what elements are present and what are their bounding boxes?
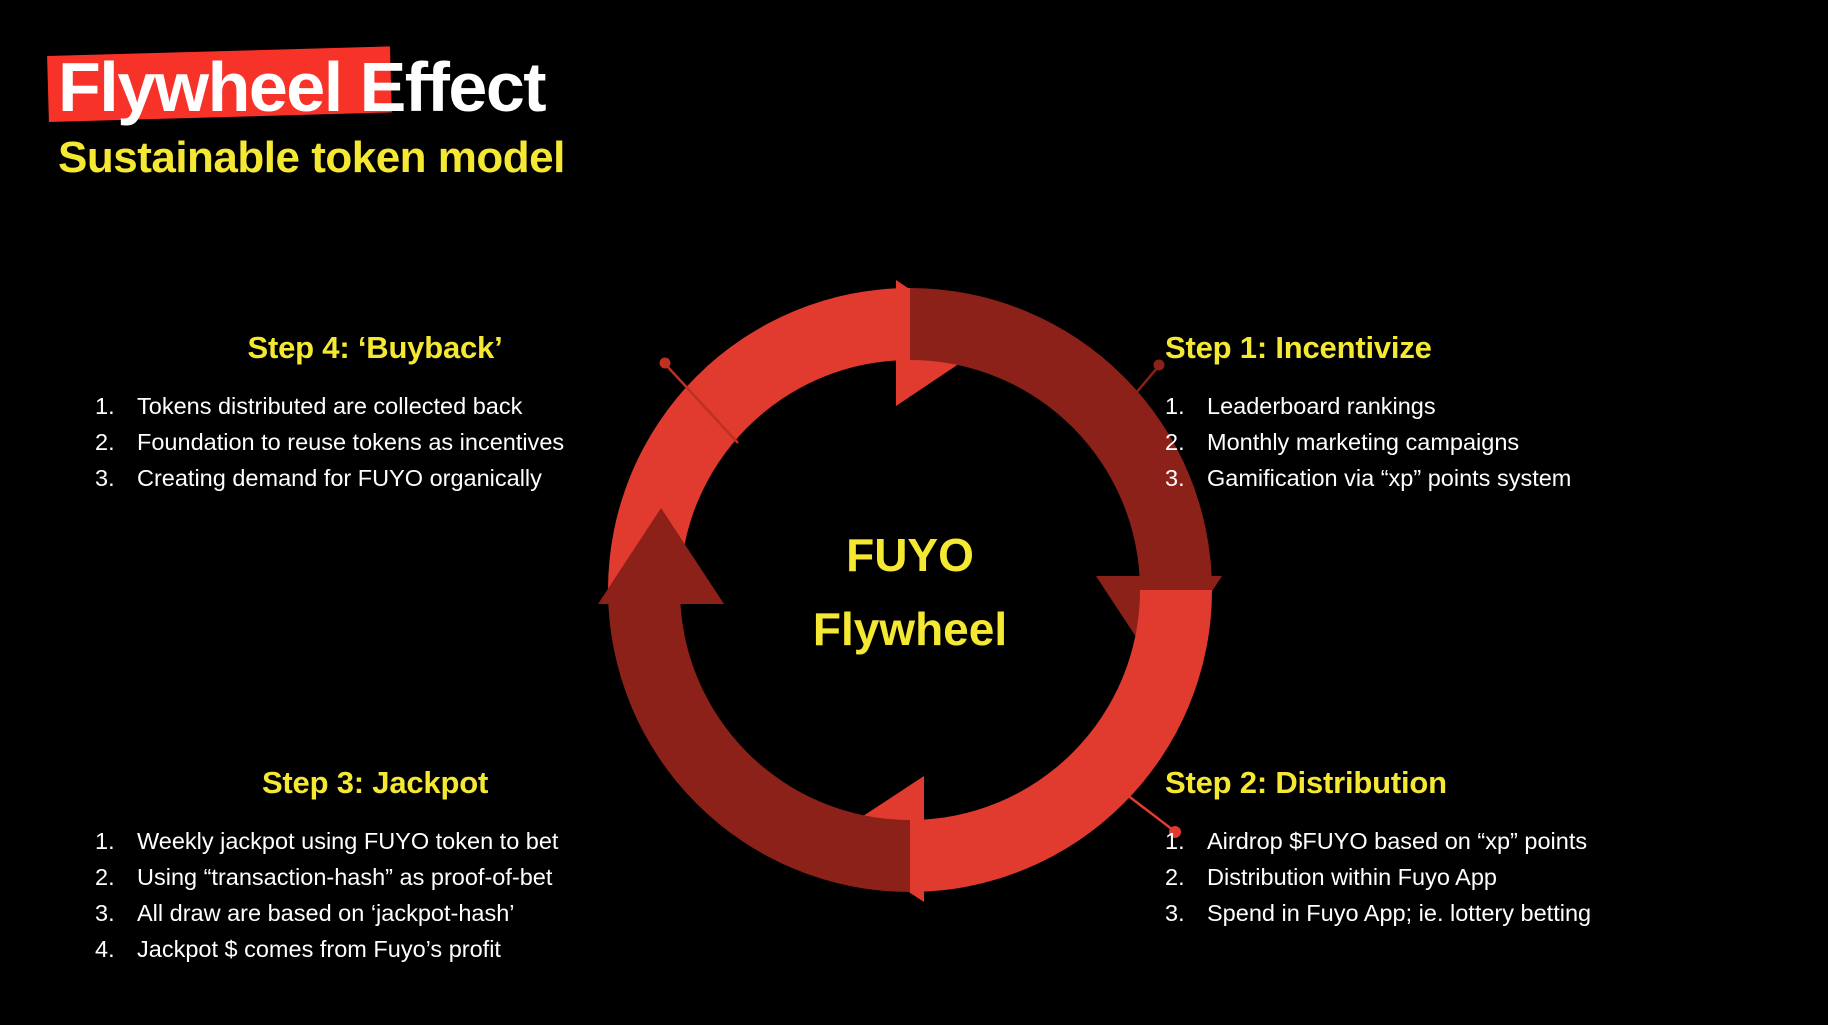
step-title-step2: Step 2: Distribution (1165, 765, 1591, 801)
list-item: 1. Tokens distributed are collected back (95, 388, 655, 424)
list-item-text: Distribution within Fuyo App (1207, 859, 1497, 895)
list-item-number: 3. (1165, 460, 1207, 496)
list-item-number: 3. (95, 895, 137, 931)
step-panel-step4: Step 4: ‘Buyback’ 1. Tokens distributed … (95, 330, 655, 496)
list-item-text: Gamification via “xp” points system (1207, 460, 1571, 496)
step-panel-step1: Step 1: Incentivize 1. Leaderboard ranki… (1165, 330, 1571, 496)
list-item-number: 1. (1165, 388, 1207, 424)
list-item: 4. Jackpot $ comes from Fuyo’s profit (95, 931, 655, 967)
step-panel-step2: Step 2: Distribution 1. Airdrop $FUYO ba… (1165, 765, 1591, 931)
list-item: 2. Monthly marketing campaigns (1165, 424, 1571, 460)
list-item-text: Weekly jackpot using FUYO token to bet (137, 823, 558, 859)
list-item: 1. Airdrop $FUYO based on “xp” points (1165, 823, 1591, 859)
list-item-number: 1. (95, 823, 137, 859)
list-item: 1. Leaderboard rankings (1165, 388, 1571, 424)
list-item: 3. All draw are based on ‘jackpot-hash’ (95, 895, 655, 931)
list-item-number: 4. (95, 931, 137, 967)
list-item: 1. Weekly jackpot using FUYO token to be… (95, 823, 655, 859)
list-item-text: Leaderboard rankings (1207, 388, 1436, 424)
step-title-step1: Step 1: Incentivize (1165, 330, 1571, 366)
list-item-number: 2. (1165, 424, 1207, 460)
step-title-step4: Step 4: ‘Buyback’ (95, 330, 655, 366)
list-item-text: Tokens distributed are collected back (137, 388, 522, 424)
step-list-step4: 1. Tokens distributed are collected back… (95, 388, 655, 496)
list-item-text: All draw are based on ‘jackpot-hash’ (137, 895, 515, 931)
list-item-number: 1. (95, 388, 137, 424)
list-item: 3. Creating demand for FUYO organically (95, 460, 655, 496)
list-item: 2. Distribution within Fuyo App (1165, 859, 1591, 895)
step-title-step3: Step 3: Jackpot (95, 765, 655, 801)
list-item-text: Foundation to reuse tokens as incentives (137, 424, 564, 460)
step-list-step2: 1. Airdrop $FUYO based on “xp” points 2.… (1165, 823, 1591, 931)
list-item-text: Using “transaction-hash” as proof-of-bet (137, 859, 552, 895)
list-item: 3. Gamification via “xp” points system (1165, 460, 1571, 496)
connector-leader-step4 (660, 355, 740, 445)
list-item-number: 3. (1165, 895, 1207, 931)
list-item: 3. Spend in Fuyo App; ie. lottery bettin… (1165, 895, 1591, 931)
title-block: Flywheel Effect Sustainable token model (58, 48, 565, 186)
list-item-text: Jackpot $ comes from Fuyo’s profit (137, 931, 501, 967)
list-item-text: Spend in Fuyo App; ie. lottery betting (1207, 895, 1591, 931)
step-panel-step3: Step 3: Jackpot 1. Weekly jackpot using … (95, 765, 655, 967)
list-item-number: 2. (95, 859, 137, 895)
connector-leader-step1 (1100, 355, 1170, 435)
page-subtitle: Sustainable token model (58, 130, 565, 186)
step-list-step1: 1. Leaderboard rankings 2. Monthly marke… (1165, 388, 1571, 496)
slide-canvas: Flywheel Effect Sustainable token model (0, 0, 1828, 1025)
list-item-number: 3. (95, 460, 137, 496)
list-item-number: 2. (95, 424, 137, 460)
title-line: Flywheel Effect (58, 48, 565, 126)
list-item: 2. Foundation to reuse tokens as incenti… (95, 424, 655, 460)
list-item-text: Creating demand for FUYO organically (137, 460, 542, 496)
list-item-number: 2. (1165, 859, 1207, 895)
step-list-step3: 1. Weekly jackpot using FUYO token to be… (95, 823, 655, 967)
list-item-number: 1. (1165, 823, 1207, 859)
list-item-text: Monthly marketing campaigns (1207, 424, 1519, 460)
list-item: 2. Using “transaction-hash” as proof-of-… (95, 859, 655, 895)
list-item-text: Airdrop $FUYO based on “xp” points (1207, 823, 1587, 859)
page-title: Flywheel Effect (58, 48, 565, 126)
